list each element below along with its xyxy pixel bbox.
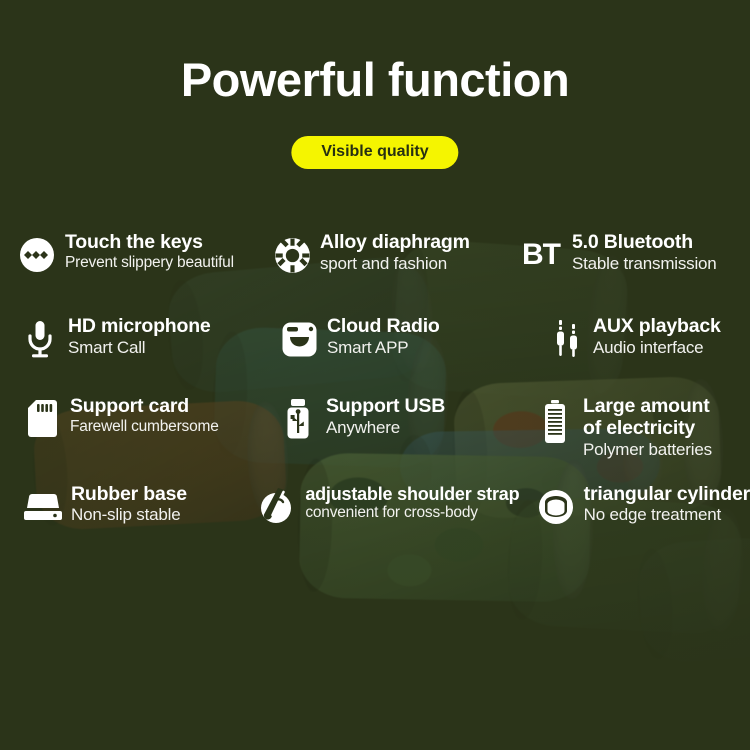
feature-title: Alloy diaphragm xyxy=(320,231,470,253)
shoulder-strap-icon xyxy=(258,486,296,528)
feature-support-card: Support card Farewell cumbersome xyxy=(23,396,253,440)
feature-subtitle: Prevent slippery beautiful xyxy=(65,254,234,271)
feature-subtitle: Smart APP xyxy=(327,338,408,357)
feature-title: Large amount xyxy=(583,395,710,417)
feature-subtitle: Polymer batteries xyxy=(583,440,712,459)
usb-drive-icon xyxy=(279,398,317,440)
cloud-radio-icon xyxy=(280,318,318,360)
rubber-base-icon xyxy=(24,486,62,528)
feature-title: 5.0 Bluetooth xyxy=(572,231,693,253)
feature-title-line2: of electricity xyxy=(583,417,695,439)
feature-touch-the-keys: Touch the keys Prevent slippery beautifu… xyxy=(18,232,258,276)
feature-subtitle: Non-slip stable xyxy=(71,505,180,524)
feature-subtitle: Smart Call xyxy=(68,338,145,357)
feature-row: Support card Farewell cumbersome xyxy=(0,396,750,460)
feature-subtitle: Audio interface xyxy=(593,338,703,357)
feature-row: Rubber base Non-slip stable adjustable s… xyxy=(0,484,750,528)
feature-triangular-cylinder: triangular cylinder No edge treatment xyxy=(537,484,750,528)
alloy-diaphragm-icon xyxy=(273,234,311,276)
feature-large-battery: Large amount of electricity Polymer batt… xyxy=(536,396,712,460)
feature-title: Support card xyxy=(70,395,189,417)
microphone-icon xyxy=(21,318,59,360)
status-badge: Visible quality xyxy=(291,136,458,169)
feature-cloud-radio: Cloud Radio Smart APP xyxy=(280,316,510,360)
feature-row: Touch the keys Prevent slippery beautifu… xyxy=(0,232,750,276)
triangular-cylinder-icon xyxy=(537,486,575,528)
feature-subtitle: Farewell cumbersome xyxy=(70,418,219,435)
feature-subtitle: sport and fashion xyxy=(320,254,447,273)
feature-bluetooth: BT 5.0 Bluetooth Stable transmission xyxy=(519,232,717,276)
feature-subtitle: No edge treatment xyxy=(584,505,721,524)
feature-title: AUX playback xyxy=(593,315,721,337)
feature-title: triangular cylinder xyxy=(584,483,750,505)
page-title: Powerful function xyxy=(0,52,750,107)
feature-title: adjustable shoulder strap xyxy=(305,484,519,504)
feature-alloy-diaphragm: Alloy diaphragm sport and fashion xyxy=(273,232,498,276)
aux-jack-icon xyxy=(554,318,584,360)
feature-subtitle: Stable transmission xyxy=(572,254,717,273)
touch-keys-icon xyxy=(18,234,56,276)
feature-shoulder-strap: adjustable shoulder strap convenient for… xyxy=(258,484,519,528)
feature-subtitle: Anywhere xyxy=(326,418,400,437)
feature-support-usb: Support USB Anywhere xyxy=(279,396,499,440)
feature-rubber-base: Rubber base Non-slip stable xyxy=(24,484,230,528)
feature-title: Cloud Radio xyxy=(327,315,440,337)
feature-title: Rubber base xyxy=(71,483,187,505)
feature-title: Touch the keys xyxy=(65,231,203,253)
feature-row: HD microphone Smart Call Cloud Radio Sma… xyxy=(0,316,750,360)
bt-label: BT xyxy=(522,240,560,270)
feature-aux-playback: AUX playback Audio interface xyxy=(554,316,721,360)
feature-grid: Touch the keys Prevent slippery beautifu… xyxy=(0,232,750,558)
feature-title: Support USB xyxy=(326,395,445,417)
sd-card-icon xyxy=(23,398,61,440)
feature-subtitle: convenient for cross-body xyxy=(305,504,477,521)
bluetooth-bt-icon: BT xyxy=(519,234,563,276)
feature-hd-microphone: HD microphone Smart Call xyxy=(21,316,256,360)
feature-title: HD microphone xyxy=(68,315,211,337)
battery-icon xyxy=(536,400,574,442)
